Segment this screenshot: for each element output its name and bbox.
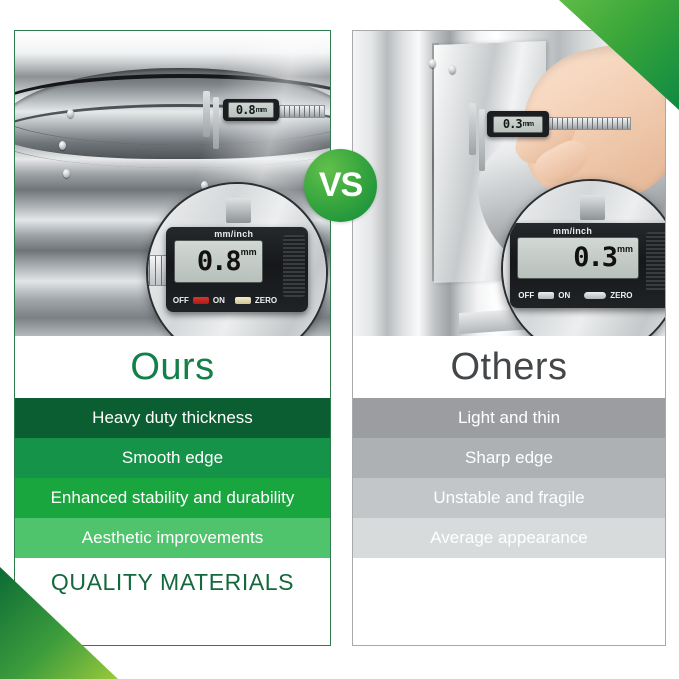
vs-badge-label: VS xyxy=(319,166,362,205)
caliper-value-magnified: 0.3 xyxy=(573,244,616,271)
ours-feature-row: Enhanced stability and durability xyxy=(15,478,330,518)
rivet xyxy=(63,169,70,178)
others-feature-row: Average appearance xyxy=(353,518,665,558)
comparison-infographic: 0.8mm mm/inch 0.8 mm OFF xyxy=(0,0,679,679)
others-feature-label: Unstable and fragile xyxy=(433,488,584,508)
ours-magnifier-bubble: mm/inch 0.8 mm OFF ON ZERO xyxy=(146,182,328,336)
caliper-zero-label[interactable]: ZERO xyxy=(610,291,632,300)
others-feature-row: Sharp edge xyxy=(353,438,665,478)
ours-heading-label: Ours xyxy=(130,346,214,389)
caliper-display: 0.8mm xyxy=(228,102,274,118)
others-footer xyxy=(353,558,665,606)
ours-footer: QUALITY MATERIALS xyxy=(15,558,330,606)
caliper-thumb-wheel xyxy=(283,235,306,297)
rivet xyxy=(429,59,436,68)
caliper-unit-mode: mm/inch xyxy=(214,229,253,239)
caliper-display-magnified: 0.8 mm xyxy=(174,240,262,283)
others-heading: Others xyxy=(353,336,665,398)
others-product-photo: 0.3mm mm/inch 0.3 mm OFF ON xyxy=(353,31,665,336)
others-magnifier-bubble: mm/inch 0.3 mm OFF ON ZERO xyxy=(501,179,665,336)
caliper-unit-mode: mm/inch xyxy=(553,226,592,236)
rivet xyxy=(449,65,456,74)
ours-feature-row: Smooth edge xyxy=(15,438,330,478)
caliper-lock-screw xyxy=(580,195,605,220)
ours-feature-label: Enhanced stability and durability xyxy=(51,488,295,508)
caliper-jaw-upper xyxy=(469,103,476,155)
caliper-unit: mm xyxy=(256,107,266,114)
caliper-thumb-wheel xyxy=(646,232,665,293)
ours-feature-label: Aesthetic improvements xyxy=(82,528,263,548)
caliper-device: 0.3mm xyxy=(469,107,629,147)
ours-footer-label: QUALITY MATERIALS xyxy=(51,569,294,596)
caliper-jaw-upper xyxy=(203,91,210,137)
ours-panel: 0.8mm mm/inch 0.8 mm OFF xyxy=(14,30,331,646)
others-heading-label: Others xyxy=(450,346,567,389)
power-switch[interactable] xyxy=(193,297,209,304)
ours-feature-row: Aesthetic improvements xyxy=(15,518,330,558)
caliper-zero-label[interactable]: ZERO xyxy=(255,296,277,305)
caliper-button-row: OFF ON ZERO xyxy=(518,289,665,303)
ours-feature-list: Heavy duty thickness Smooth edge Enhance… xyxy=(15,398,330,558)
caliper-unit: mm xyxy=(523,121,533,128)
caliper-display: 0.3mm xyxy=(493,116,543,133)
caliper-value-magnified: 0.8 xyxy=(197,248,240,275)
others-panel: 0.3mm mm/inch 0.3 mm OFF ON xyxy=(352,30,666,646)
vs-badge: VS xyxy=(304,149,377,222)
caliper-body-magnified: mm/inch 0.8 mm OFF ON ZERO xyxy=(166,227,308,312)
rivet xyxy=(59,141,66,150)
caliper-unit-magnified: mm xyxy=(617,244,633,254)
caliper-scale xyxy=(541,117,631,130)
power-switch[interactable] xyxy=(538,292,554,299)
caliper-body: 0.8mm xyxy=(223,99,279,121)
ours-product-photo: 0.8mm mm/inch 0.8 mm OFF xyxy=(15,31,330,336)
others-feature-label: Sharp edge xyxy=(465,448,553,468)
zero-switch[interactable] xyxy=(235,297,251,304)
caliper-value: 0.3 xyxy=(503,117,522,131)
others-feature-list: Light and thin Sharp edge Unstable and f… xyxy=(353,398,665,558)
caliper-body: 0.3mm xyxy=(487,111,549,137)
caliper-on-label[interactable]: ON xyxy=(558,291,570,300)
others-feature-row: Light and thin xyxy=(353,398,665,438)
others-feature-row: Unstable and fragile xyxy=(353,478,665,518)
others-feature-label: Light and thin xyxy=(458,408,560,428)
caliper-on-label[interactable]: ON xyxy=(213,296,225,305)
caliper-off-label[interactable]: OFF xyxy=(173,296,189,305)
caliper-lock-screw xyxy=(226,198,251,223)
caliper-display-magnified: 0.3 mm xyxy=(517,237,639,279)
zero-switch[interactable] xyxy=(584,292,606,299)
caliper-jaw-lower xyxy=(213,97,219,149)
caliper-body-magnified: mm/inch 0.3 mm OFF ON ZERO xyxy=(510,223,665,307)
ours-feature-label: Heavy duty thickness xyxy=(92,408,253,428)
others-feature-label: Average appearance xyxy=(430,528,588,548)
caliper-off-label[interactable]: OFF xyxy=(518,291,534,300)
rivet xyxy=(67,109,74,118)
caliper-button-row: OFF ON ZERO xyxy=(173,293,301,307)
caliper-unit-magnified: mm xyxy=(241,247,257,257)
caliper-jaw-lower xyxy=(479,109,485,171)
ours-heading: Ours xyxy=(15,336,330,398)
caliper-device: 0.8mm xyxy=(201,93,323,133)
ours-feature-label: Smooth edge xyxy=(122,448,223,468)
ours-feature-row: Heavy duty thickness xyxy=(15,398,330,438)
caliper-value: 0.8 xyxy=(236,103,255,117)
